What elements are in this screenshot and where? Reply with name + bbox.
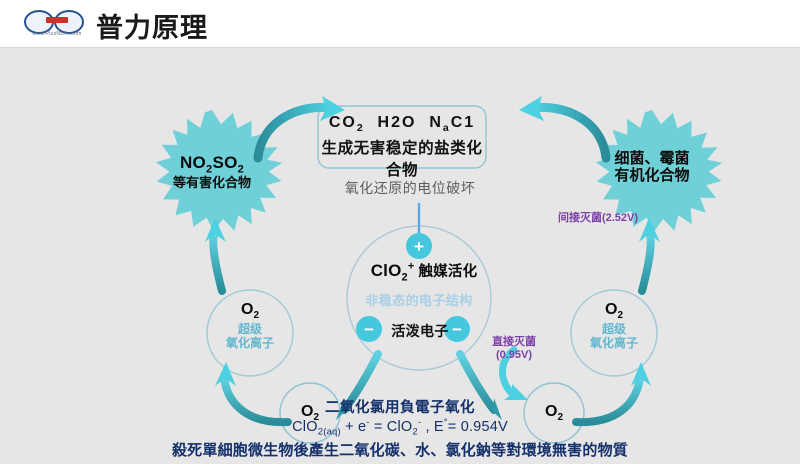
slide-header: www.PlusNLife.com 普力原理: [0, 0, 800, 48]
direct-kill-label: 直接灭菌 (0.95V): [478, 336, 550, 361]
left-burst-label: NO2SO2 等有害化合物: [152, 153, 272, 190]
o2-right-label: O2 超级 氧化离子: [569, 302, 659, 351]
page-title: 普力原理: [96, 6, 208, 45]
core-formula: ClO2+触媒活化: [349, 260, 499, 283]
core-active-electron-label: 活泼电子: [370, 321, 470, 341]
top-box-line1: CO2 H2O NaC1: [318, 114, 486, 134]
o2-left-caption-2: 氧化离子: [205, 337, 295, 351]
arrow-right-to-top-box: [519, 96, 606, 158]
arrow-o2-left-to-left-burst: [205, 218, 226, 291]
o2-right-caption-1: 超级: [569, 323, 659, 337]
o2-left-formula: O2: [205, 302, 295, 322]
plusnlife-logo: www.PlusNLife.com: [18, 8, 96, 40]
right-burst-line1: 细菌、霉菌: [592, 151, 712, 168]
diagram-canvas: NO2SO2 等有害化合物 细菌、霉菌 有机化合物 CO2 H2O NaC1 生…: [0, 48, 800, 464]
redox-label: 氧化还原的电位破坏: [330, 178, 490, 198]
plus-charge-icon: +: [406, 233, 432, 259]
core-structure-label: 非稳态的电子结构: [344, 290, 494, 309]
caption-line-3: 殺死單細胞微生物後產生二氧化碳、水、氯化鈉等對環境無害的物質: [0, 439, 800, 460]
direct-kill-line-2: (0.95V): [478, 349, 550, 362]
direct-kill-line-1: 直接灭菌: [478, 336, 550, 349]
left-burst-formula: NO2SO2: [152, 153, 272, 176]
top-product-text: CO2 H2O NaC1 生成无害稳定的盐类化合物: [318, 114, 486, 180]
caption-line-2: ClO2(aq) + e- = ClO2- , E°= 0.954V: [0, 417, 800, 438]
o2-left-caption-1: 超级: [205, 323, 295, 337]
caption-line-1: 二氧化氯用負電子氧化: [0, 396, 800, 417]
logo-bar: [46, 17, 68, 23]
left-burst-sublabel: 等有害化合物: [152, 176, 272, 191]
logo-caption: www.PlusNLife.com: [18, 31, 96, 37]
indirect-kill-label: 间接灭菌(2.52V): [538, 212, 658, 225]
o2-right-caption-2: 氧化离子: [569, 337, 659, 351]
o2-right-formula: O2: [569, 302, 659, 322]
o2-left-label: O2 超级 氧化离子: [205, 302, 295, 351]
arrow-o2-right-to-right-burst: [639, 218, 660, 291]
slide: www.PlusNLife.com 普力原理: [0, 0, 800, 464]
right-burst-label: 细菌、霉菌 有机化合物: [592, 151, 712, 185]
top-box-line2: 生成无害稳定的盐类化合物: [318, 136, 486, 180]
right-burst-line2: 有机化合物: [592, 168, 712, 185]
core-catalysis-label: 触媒活化: [418, 264, 477, 280]
